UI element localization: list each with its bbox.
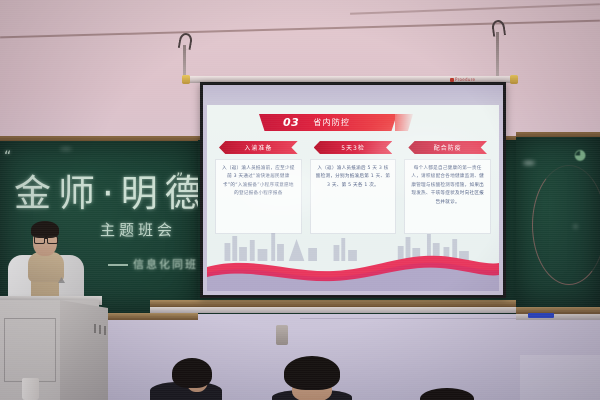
slide-column: 入渝准备 入（返）渝人员抵渝前，应至少提前 3 天通过“渝快进居民健康卡”的“入… [215,141,302,234]
chalk-quote-open: “ [4,149,11,165]
column-heading-banner: 入渝准备 [219,141,298,154]
podium-vent-slot [104,326,106,335]
screen-hanger-left [183,45,186,77]
slide-column: 5天3检 入（返）渝人员抵渝后 5 天 3 核酸检测，分别为抵渝后第 1 天、第… [310,141,397,234]
chalk-smudge-right [523,161,535,165]
column-body: 入（返）渝人员抵渝前，应至少提前 3 天通过“渝快进居民健康卡”的“入渝报备”小… [215,159,302,234]
screen-hanger-right [496,32,499,77]
column-body-text: 每个人都是自己健康的第一责任人，请积极配合各地健康监测、健康管理与核酸检测等措施… [410,165,485,207]
slide-section-number: 03 [283,116,299,129]
glasses-right-lens-icon [47,236,58,244]
screen-canvas: 03 省内防控 入渝准备 入（返）渝人员抵渝前，应至少提前 3 天通过“渝快进居… [203,85,503,295]
presenter-hood [28,252,64,282]
tray-marker-blue [528,313,554,318]
wall-switch-plate [276,325,288,345]
blackboard-frame-bottom-mid [150,300,518,307]
column-body: 每个人都是自己健康的第一责任人，请积极配合各地健康监测、健康管理与核酸检测等措施… [404,159,491,234]
chalk-quote-close: ” [176,171,183,187]
rail-cap-left [182,75,190,84]
chalk-dash [108,264,128,266]
chalk-tray-mid [150,307,518,313]
column-heading-banner: 5天3检 [314,141,393,154]
wave-decoration [207,247,499,291]
blackboard-right: ◕ [516,137,600,307]
red-chalk-arc [532,165,600,285]
column-body-text: 入（返）渝人员抵渝后 5 天 3 核酸检测，分别为抵渝后第 1 天、第 3 天、… [316,165,391,190]
chalk-byline: 信息化同班 [133,256,198,272]
column-heading-text: 入渝准备 [244,143,272,152]
presentation-slide: 03 省内防控 入渝准备 入（返）渝人员抵渝前，应至少提前 3 天通过“渝快进居… [207,105,499,291]
student-hair [172,358,212,388]
podium-vent-slot [94,324,96,333]
cup [22,378,39,400]
wall-panel [520,355,600,400]
column-heading-banner: 配合防疫 [408,141,487,154]
green-chalk-scribble: ◕ [574,147,586,163]
podium-front-panel [4,318,56,382]
podium-vent-slot [99,325,101,334]
slide-column: 配合防疫 每个人都是自己健康的第一责任人，请积极配合各地健康监测、健康管理与核酸… [404,141,491,234]
podium-side-panel [60,300,108,400]
column-body-text: 入（返）渝人员抵渝前，应至少提前 3 天通过“渝快进居民健康卡”的“入渝报备”小… [221,165,296,199]
glasses-bridge-icon [44,238,47,239]
chalk-smudge [60,147,72,151]
slide-header-ribbon: 03 省内防控 [259,114,397,131]
column-body: 入（返）渝人员抵渝后 5 天 3 核酸检测，分别为抵渝后第 1 天、第 3 天、… [310,159,397,234]
screen-top-band [203,85,503,105]
rail-cap-right [510,75,518,84]
slide-columns: 入渝准备 入（返）渝人员抵渝前，应至少提前 3 天通过“渝快进居民健康卡”的“入… [215,141,491,234]
chalk-dot-right [574,225,577,228]
student-hair [284,356,340,390]
column-heading-text: 配合防疫 [434,143,462,152]
ribbon-tail-accent [395,114,413,131]
column-heading-text: 5天3检 [341,143,365,152]
classroom-photo: Proedure “ 金师·明德 ” 主题班会 信息化同班 ◕ 03 [0,0,600,400]
projector-screen: 03 省内防控 入渝准备 入（返）渝人员抵渝前，应至少提前 3 天通过“渝快进居… [200,82,506,298]
chalk-subtitle: 主题班会 [100,219,176,240]
slide-section-title: 省内防控 [313,117,350,128]
